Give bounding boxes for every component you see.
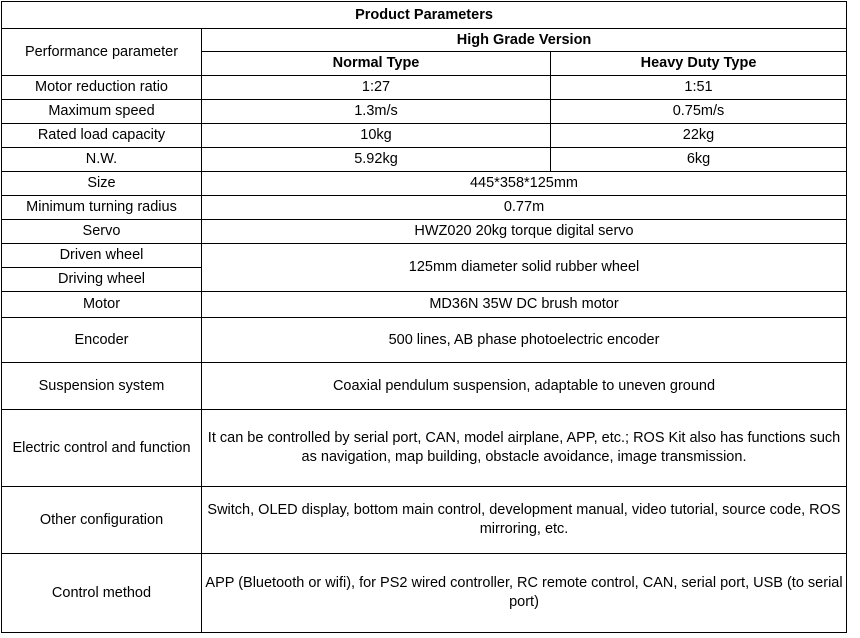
row-value: Switch, OLED display, bottom main contro… — [202, 487, 847, 554]
row-label: Size — [2, 172, 202, 196]
table-row: Minimum turning radius 0.77m — [2, 196, 847, 220]
row-label-driven-wheel: Driven wheel — [2, 244, 202, 268]
table-row: Servo HWZ020 20kg torque digital servo — [2, 220, 847, 244]
row-label: Maximum speed — [2, 100, 202, 124]
row-value-normal: 5.92kg — [202, 148, 551, 172]
row-value-heavy: 6kg — [551, 148, 847, 172]
table-row: Motor reduction ratio 1:27 1:51 — [2, 76, 847, 100]
table-row: Control method APP (Bluetooth or wifi), … — [2, 554, 847, 633]
row-label: Suspension system — [2, 363, 202, 410]
table-title-row: Product Parameters — [2, 2, 847, 29]
page-title: Product Parameters — [2, 2, 847, 29]
version-header-row: Performance parameter High Grade Version — [2, 29, 847, 52]
row-value-heavy: 22kg — [551, 124, 847, 148]
row-value: Coaxial pendulum suspension, adaptable t… — [202, 363, 847, 410]
row-label: Rated load capacity — [2, 124, 202, 148]
table-row: Electric control and function It can be … — [2, 410, 847, 487]
table-row: Rated load capacity 10kg 22kg — [2, 124, 847, 148]
row-label: Encoder — [2, 318, 202, 363]
row-label: Electric control and function — [2, 410, 202, 487]
product-parameters-table: Product Parameters Performance parameter… — [1, 1, 847, 633]
table-row: Driven wheel 125mm diameter solid rubber… — [2, 244, 847, 268]
row-value: APP (Bluetooth or wifi), for PS2 wired c… — [202, 554, 847, 633]
row-label: Control method — [2, 554, 202, 633]
table-row: Other configuration Switch, OLED display… — [2, 487, 847, 554]
row-value: MD36N 35W DC brush motor — [202, 292, 847, 318]
column-header-heavy-duty-type: Heavy Duty Type — [551, 52, 847, 76]
column-header-normal-type: Normal Type — [202, 52, 551, 76]
row-value: It can be controlled by serial port, CAN… — [202, 410, 847, 487]
table-row: Suspension system Coaxial pendulum suspe… — [2, 363, 847, 410]
row-value: 0.77m — [202, 196, 847, 220]
row-value: HWZ020 20kg torque digital servo — [202, 220, 847, 244]
row-label: Servo — [2, 220, 202, 244]
row-label: Motor reduction ratio — [2, 76, 202, 100]
table-row: Maximum speed 1.3m/s 0.75m/s — [2, 100, 847, 124]
row-label: Other configuration — [2, 487, 202, 554]
row-value: 445*358*125mm — [202, 172, 847, 196]
row-value-normal: 1.3m/s — [202, 100, 551, 124]
row-label: N.W. — [2, 148, 202, 172]
table-row: N.W. 5.92kg 6kg — [2, 148, 847, 172]
row-value-normal: 10kg — [202, 124, 551, 148]
row-label: Minimum turning radius — [2, 196, 202, 220]
row-value-heavy: 1:51 — [551, 76, 847, 100]
row-value-normal: 1:27 — [202, 76, 551, 100]
spreadsheet-canvas: Product Parameters Performance parameter… — [0, 1, 860, 638]
label-column-header: Performance parameter — [2, 29, 202, 76]
version-header: High Grade Version — [202, 29, 847, 52]
row-label-driving-wheel: Driving wheel — [2, 268, 202, 292]
row-value: 500 lines, AB phase photoelectric encode… — [202, 318, 847, 363]
table-row: Encoder 500 lines, AB phase photoelectri… — [2, 318, 847, 363]
row-value-wheel: 125mm diameter solid rubber wheel — [202, 244, 847, 292]
row-value-heavy: 0.75m/s — [551, 100, 847, 124]
row-label: Motor — [2, 292, 202, 318]
table-row: Motor MD36N 35W DC brush motor — [2, 292, 847, 318]
table-row: Size 445*358*125mm — [2, 172, 847, 196]
